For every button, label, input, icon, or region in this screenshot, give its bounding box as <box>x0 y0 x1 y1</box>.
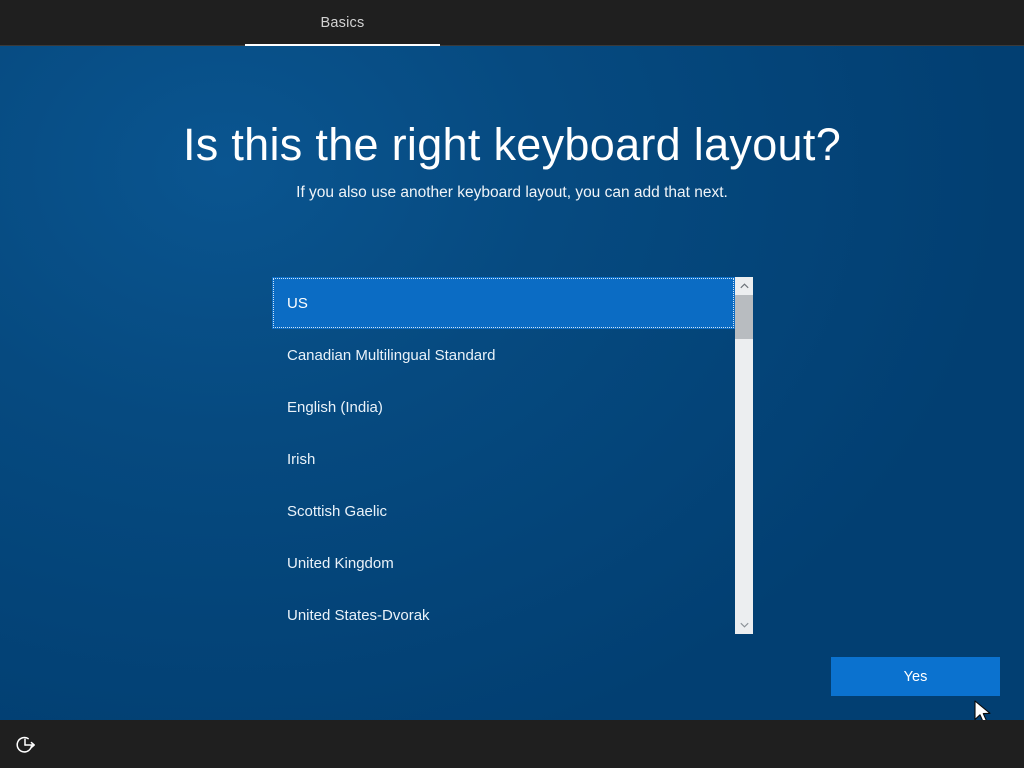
list-item[interactable]: Canadian Multilingual Standard <box>272 329 735 381</box>
ease-of-access-icon[interactable] <box>10 730 40 760</box>
page-subtitle: If you also use another keyboard layout,… <box>0 184 1024 202</box>
list-item[interactable]: US <box>272 277 735 329</box>
scrollbar-thumb[interactable] <box>735 295 753 339</box>
chevron-down-icon[interactable] <box>735 616 753 634</box>
list-item-label: US <box>287 295 308 312</box>
top-tab-bar: Basics <box>0 0 1024 46</box>
oobe-screen: Basics Is this the right keyboard layout… <box>0 0 1024 768</box>
list-item-label: United States-Dvorak <box>287 607 430 624</box>
tab-basics[interactable]: Basics <box>245 0 440 46</box>
list-item[interactable]: Scottish Gaelic <box>272 485 735 537</box>
tab-basics-label: Basics <box>321 15 365 31</box>
scrollbar-track[interactable] <box>735 339 753 616</box>
list-item[interactable]: United Kingdom <box>272 537 735 589</box>
list-item-label: Scottish Gaelic <box>287 503 387 520</box>
list-item[interactable]: United States-Dvorak <box>272 589 735 634</box>
list-item[interactable]: English (India) <box>272 381 735 433</box>
list-item[interactable]: Irish <box>272 433 735 485</box>
keyboard-layout-list[interactable]: US Canadian Multilingual Standard Englis… <box>272 277 735 634</box>
listbox-scrollbar[interactable] <box>735 277 753 634</box>
chevron-up-icon[interactable] <box>735 277 753 295</box>
yes-button[interactable]: Yes <box>831 657 1000 696</box>
bottom-bar <box>0 720 1024 768</box>
list-item-label: Irish <box>287 451 315 468</box>
list-item-label: English (India) <box>287 399 383 416</box>
list-item-label: United Kingdom <box>287 555 394 572</box>
main-stage: Is this the right keyboard layout? If yo… <box>0 46 1024 720</box>
keyboard-layout-listbox[interactable]: US Canadian Multilingual Standard Englis… <box>272 277 753 634</box>
page-title: Is this the right keyboard layout? <box>0 119 1024 171</box>
list-item-label: Canadian Multilingual Standard <box>287 347 495 364</box>
